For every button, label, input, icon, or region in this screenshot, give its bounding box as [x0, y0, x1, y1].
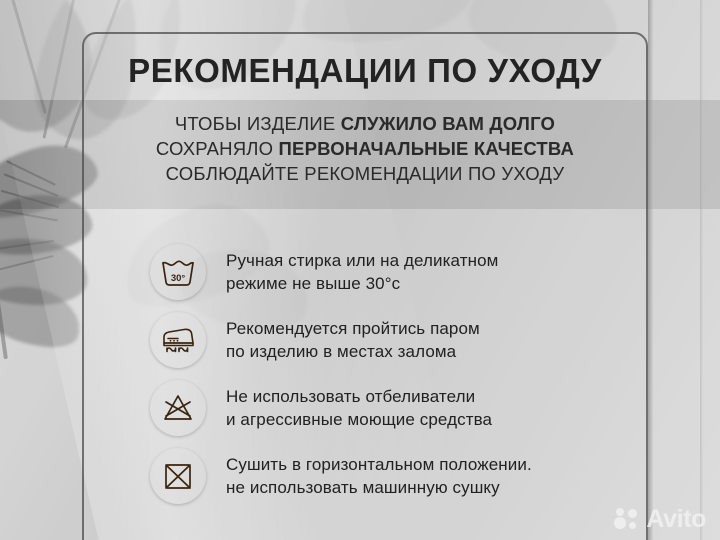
avito-watermark: Avito [614, 507, 706, 532]
avito-wordmark: Avito [646, 507, 706, 532]
care-rule-text: Не использовать отбеливатели и агрессивн… [226, 385, 492, 431]
subtitle-line-1-plain: ЧТОБЫ ИЗДЕЛИЕ [175, 113, 341, 134]
subtitle-block: ЧТОБЫ ИЗДЕЛИЕ СЛУЖИЛО ВАМ ДОЛГО СОХРАНЯЛ… [82, 111, 648, 186]
do-not-bleach-icon [150, 380, 206, 436]
avito-logo-icon [614, 508, 640, 532]
care-rule-text: Ручная стирка или на деликатном режиме н… [226, 249, 498, 295]
subtitle-line-1: ЧТОБЫ ИЗДЕЛИЕ СЛУЖИЛО ВАМ ДОЛГО [82, 111, 648, 136]
care-rule-line-2: режиме не выше 30°с [226, 272, 498, 295]
care-rule-item: Сушить в горизонтальном положении. не ис… [150, 442, 640, 510]
subtitle-line-3-plain: СОБЛЮДАЙТЕ РЕКОМЕНДАЦИИ ПО УХОДУ [166, 163, 565, 184]
care-rule-text: Сушить в горизонтальном положении. не ис… [226, 453, 532, 499]
subtitle-line-2-plain: СОХРАНЯЛО [156, 138, 279, 159]
care-rule-line-1: Сушить в горизонтальном положении. [226, 453, 532, 476]
wall-seam-secondary [700, 0, 703, 540]
subtitle-line-1-bold: СЛУЖИЛО ВАМ ДОЛГО [341, 113, 555, 134]
care-rules-list: 30° Ручная стирка или на деликатном режи… [150, 238, 640, 510]
steam-iron-icon [150, 312, 206, 368]
care-rule-line-1: Не использовать отбеливатели [226, 385, 492, 408]
hand-wash-temperature-label: 30° [171, 273, 186, 284]
subtitle-line-2: СОХРАНЯЛО ПЕРВОНАЧАЛЬНЫЕ КАЧЕСТВА [82, 136, 648, 161]
page-title: РЕКОМЕНДАЦИИ ПО УХОДУ [82, 52, 648, 90]
card-content: РЕКОМЕНДАЦИИ ПО УХОДУ ЧТОБЫ ИЗДЕЛИЕ СЛУЖ… [82, 32, 648, 540]
care-rule-line-2: не использовать машинную сушку [226, 476, 532, 499]
care-rule-item: Не использовать отбеливатели и агрессивн… [150, 374, 640, 442]
care-rule-line-2: по изделию в местах залома [226, 340, 480, 363]
subtitle-line-2-bold: ПЕРВОНАЧАЛЬНЫЕ КАЧЕСТВА [279, 138, 575, 159]
care-rule-item: Рекомендуется пройтись паром по изделию … [150, 306, 640, 374]
care-rule-line-1: Рекомендуется пройтись паром [226, 317, 480, 340]
care-rule-text: Рекомендуется пройтись паром по изделию … [226, 317, 480, 363]
care-instructions-image: РЕКОМЕНДАЦИИ ПО УХОДУ ЧТОБЫ ИЗДЕЛИЕ СЛУЖ… [0, 0, 720, 540]
care-rule-line-2: и агрессивные моющие средства [226, 408, 492, 431]
subtitle-line-3: СОБЛЮДАЙТЕ РЕКОМЕНДАЦИИ ПО УХОДУ [82, 161, 648, 186]
hand-wash-30-icon: 30° [150, 244, 206, 300]
wall-seam [648, 0, 653, 540]
care-rule-line-1: Ручная стирка или на деликатном [226, 249, 498, 272]
care-rule-item: 30° Ручная стирка или на деликатном режи… [150, 238, 640, 306]
do-not-tumble-dry-icon [150, 448, 206, 504]
